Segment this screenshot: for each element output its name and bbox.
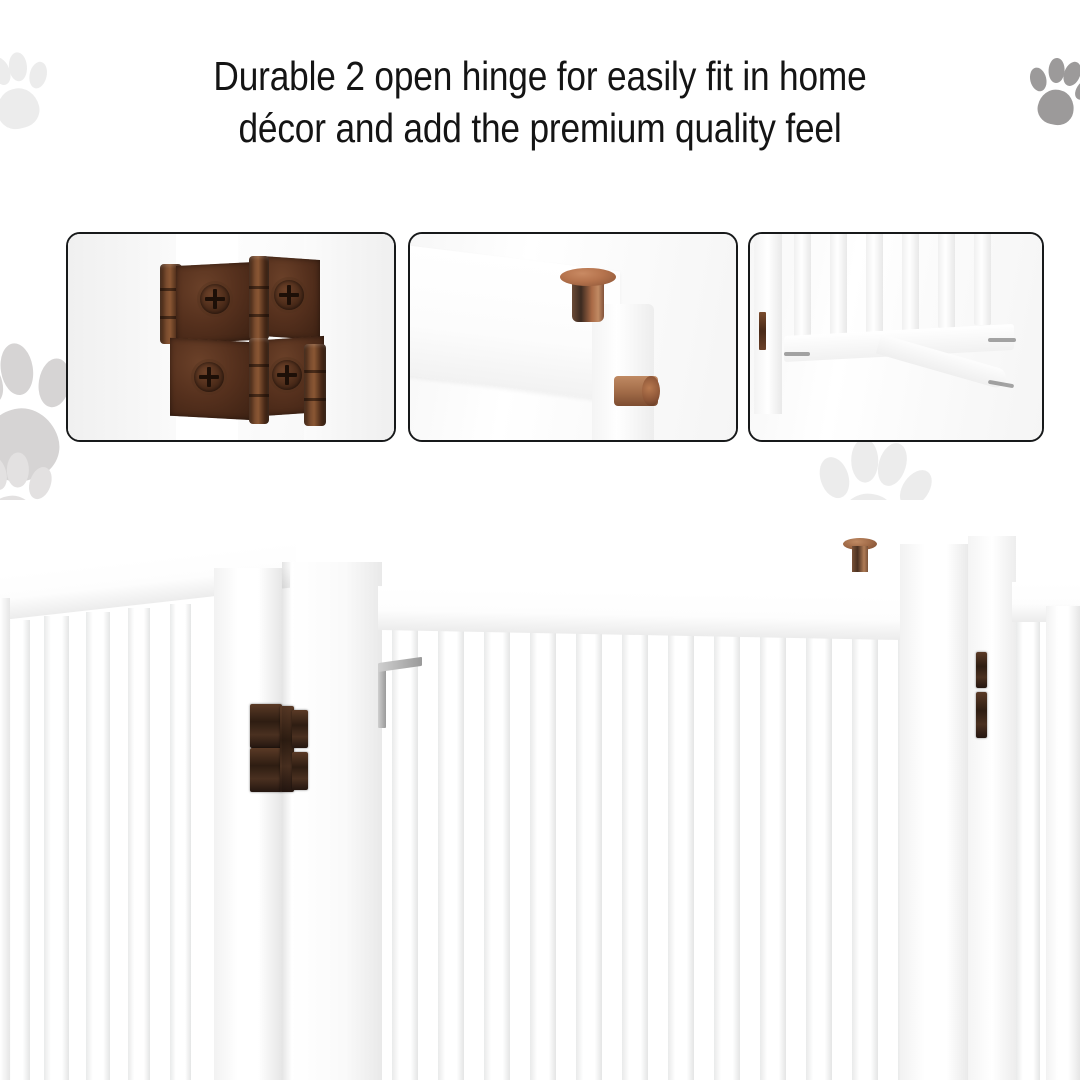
gate-slat — [760, 632, 786, 1080]
foot-shadow — [784, 352, 810, 356]
gate-slat — [128, 608, 150, 1080]
screw-icon — [194, 362, 224, 392]
paw-print-top-right — [1021, 52, 1080, 133]
gate-stile-right-a — [900, 544, 972, 1080]
panel-knob-closeup — [408, 232, 738, 442]
detail-panel-row — [0, 232, 1080, 438]
gate-slat — [938, 232, 955, 328]
gate-slat — [794, 232, 811, 340]
bronze-hinge-icon — [759, 312, 766, 350]
gate-slat — [852, 634, 878, 1080]
gate-slat — [668, 631, 694, 1080]
gate-slat — [530, 630, 556, 1080]
bronze-hinge-icon — [154, 252, 322, 428]
hero-knob-top-stem — [852, 546, 868, 572]
gate-slat — [86, 612, 110, 1080]
gate-end-stile-left — [0, 598, 10, 1080]
foot-shadow — [988, 338, 1016, 342]
screw-icon — [200, 284, 230, 314]
gate-slat — [1016, 622, 1040, 1080]
gate-slat — [484, 629, 510, 1080]
hero-hinge-left-plate2 — [250, 748, 282, 792]
gate-corner-stile-a — [214, 568, 282, 1080]
hero-hinge-right-lower — [976, 692, 987, 738]
gate-slat — [806, 633, 832, 1080]
hero-hinge-left-leaf — [292, 710, 308, 748]
screw-icon — [272, 360, 302, 390]
gate-slat — [866, 232, 883, 334]
screw-icon — [274, 280, 304, 310]
paw-print-top-left — [0, 44, 59, 140]
hero-gate-photo — [0, 500, 1080, 1080]
gate-corner-shadow — [282, 562, 292, 1080]
gate-stile-right-b — [968, 536, 1016, 1080]
hero-latch-bar — [378, 666, 386, 728]
hero-hinge-left-leaf2 — [292, 752, 308, 790]
panel-hinge-closeup — [66, 232, 396, 442]
copper-knob-side-cap — [642, 376, 660, 406]
gate-slat — [902, 232, 919, 331]
gate-slat — [576, 630, 602, 1080]
gate-slat — [714, 632, 740, 1080]
gate-slat — [974, 232, 991, 325]
copper-knob-icon — [560, 268, 616, 286]
gate-stile-far-right — [1046, 606, 1080, 1080]
gate-slat — [392, 628, 418, 1080]
hero-hinge-left-plate — [250, 704, 282, 748]
gate-slat — [438, 629, 464, 1080]
gate-post-side — [592, 304, 654, 440]
gate-corner-stile-b — [290, 562, 382, 1080]
gate-slat — [830, 232, 847, 337]
feature-image-canvas: Durable 2 open hinge for easily fit in h… — [0, 0, 1080, 1080]
gate-slat — [622, 631, 648, 1080]
gate-slat — [44, 616, 69, 1080]
hero-hinge-right-upper — [976, 652, 987, 688]
gate-slat — [170, 604, 191, 1080]
panel-base-closeup — [748, 232, 1044, 442]
page-title: Durable 2 open hinge for easily fit in h… — [136, 50, 944, 154]
